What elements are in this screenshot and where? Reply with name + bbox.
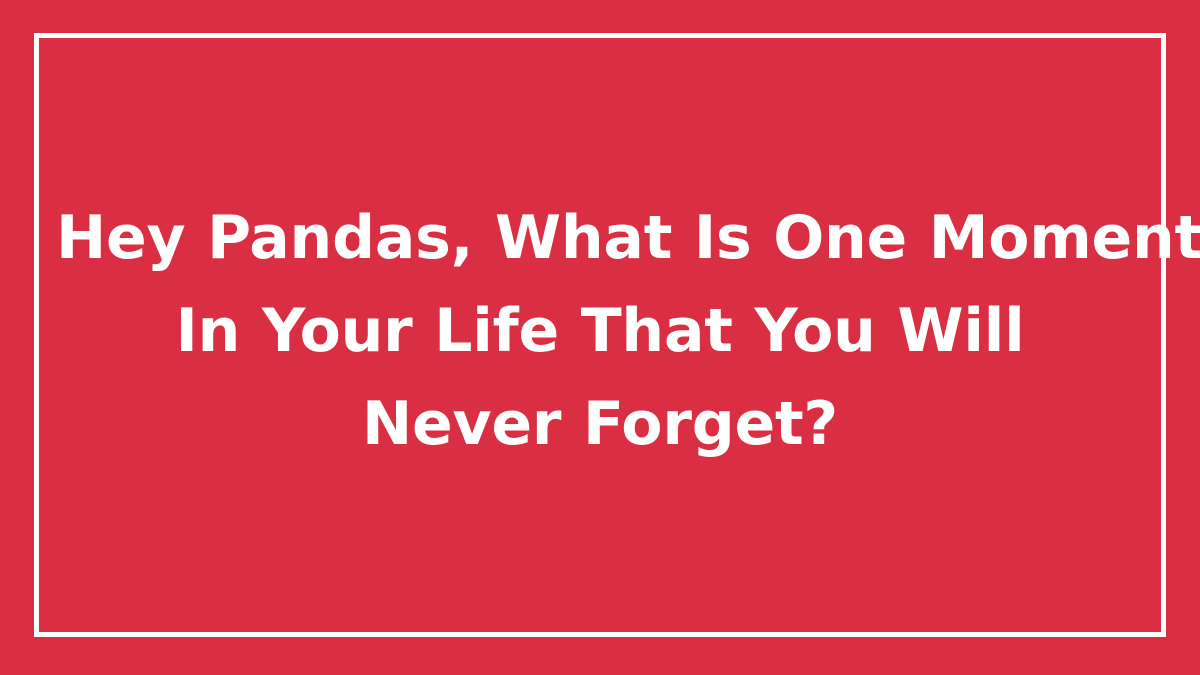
title-card: Hey Pandas, What Is One Moment In Your L… [0, 0, 1200, 675]
page-title: Hey Pandas, What Is One Moment In Your L… [56, 192, 1144, 471]
headline-line-3: Never Forget? [56, 378, 1144, 471]
headline-line-1: Hey Pandas, What Is One Moment [56, 192, 1144, 285]
headline-line-2: In Your Life That You Will [56, 285, 1144, 378]
headline-container: Hey Pandas, What Is One Moment In Your L… [34, 33, 1166, 637]
